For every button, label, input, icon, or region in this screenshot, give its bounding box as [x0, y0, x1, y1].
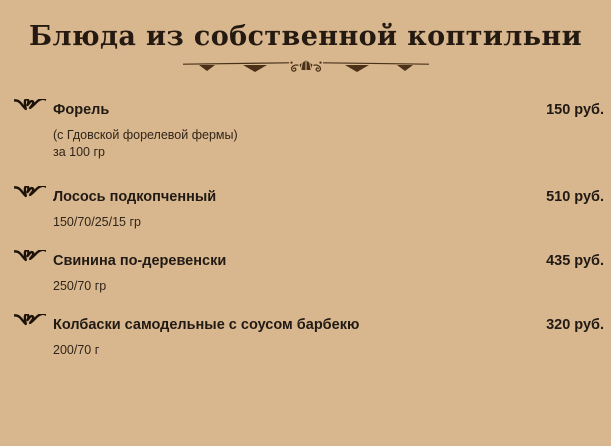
flourish-bullet-icon: [14, 186, 46, 200]
menu-item-name: Колбаски самодельные с соусом барбекю: [53, 317, 532, 333]
menu-page: Блюда из собственной коптильни: [0, 0, 611, 446]
flourish-bullet-icon: [14, 250, 46, 264]
description-line: 250/70 гр: [53, 278, 604, 295]
menu-item-name: Форель: [53, 102, 532, 118]
menu-item-price: 435 руб.: [532, 253, 604, 269]
menu-item-price: 510 руб.: [532, 189, 604, 205]
menu-item-header: Колбаски самодельные с соусом барбекю 32…: [14, 315, 604, 333]
ornamental-flourish-divider-icon: [181, 56, 431, 76]
description-line: (с Гдовской форелевой фермы): [53, 127, 604, 144]
menu-item-price: 150 руб.: [532, 102, 604, 118]
menu-items-list: Форель 150 руб. (с Гдовской форелевой фе…: [0, 100, 611, 359]
list-item[interactable]: Лосось подкопченный 510 руб. 150/70/25/1…: [14, 187, 604, 231]
menu-item-description: 150/70/25/15 гр: [53, 214, 604, 231]
page-title: Блюда из собственной коптильни: [0, 0, 611, 52]
flourish-bullet-icon: [14, 99, 46, 113]
flourish-bullet-icon: [14, 314, 46, 328]
menu-item-price: 320 руб.: [532, 317, 604, 333]
menu-header: Блюда из собственной коптильни: [0, 0, 611, 76]
description-line: 200/70 г: [53, 342, 604, 359]
description-line: за 100 гр: [53, 144, 604, 161]
description-line: 150/70/25/15 гр: [53, 214, 604, 231]
list-item[interactable]: Свинина по-деревенски 435 руб. 250/70 гр: [14, 251, 604, 295]
menu-item-header: Лосось подкопченный 510 руб.: [14, 187, 604, 205]
menu-item-name: Свинина по-деревенски: [53, 253, 532, 269]
menu-item-description: 200/70 г: [53, 342, 604, 359]
menu-item-description: 250/70 гр: [53, 278, 604, 295]
list-item[interactable]: Колбаски самодельные с соусом барбекю 32…: [14, 315, 604, 359]
menu-item-description: (с Гдовской форелевой фермы) за 100 гр: [53, 127, 604, 161]
list-item[interactable]: Форель 150 руб. (с Гдовской форелевой фе…: [14, 100, 604, 161]
menu-item-header: Свинина по-деревенски 435 руб.: [14, 251, 604, 269]
menu-item-name: Лосось подкопченный: [53, 189, 532, 205]
ornament-divider: [0, 56, 611, 76]
menu-item-header: Форель 150 руб.: [14, 100, 604, 118]
